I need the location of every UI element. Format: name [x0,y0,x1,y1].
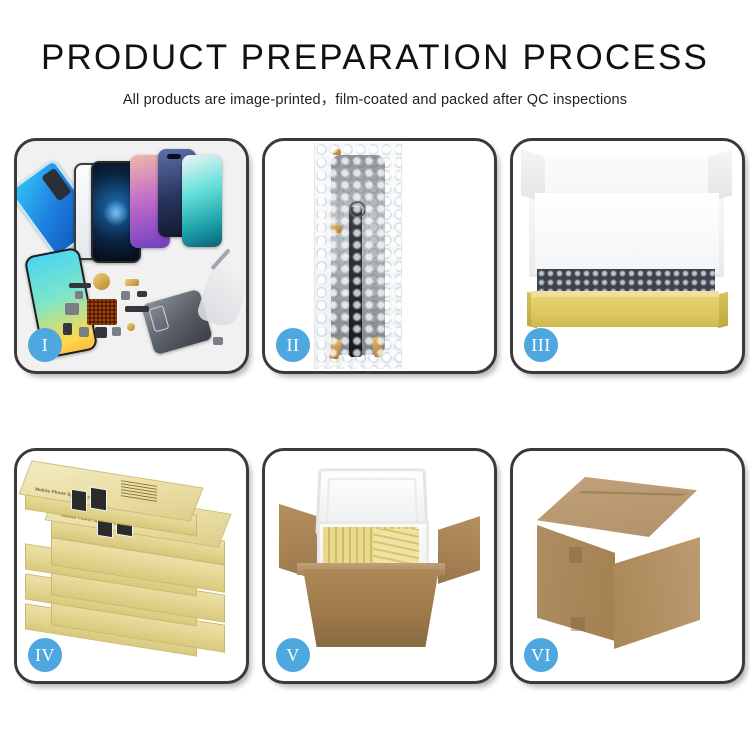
speaker-part-icon [93,273,110,290]
step-panel-3: III [510,138,745,374]
bubble-wrap-bag-icon [314,143,402,369]
step-badge-3: III [524,328,558,362]
connector-part-icon [125,279,139,286]
yellow-box-front-icon [531,297,719,327]
step-panel-2: II [262,138,497,374]
page-title: PRODUCT PREPARATION PROCESS [0,40,750,75]
antenna-part-icon [137,291,147,297]
step-badge-1: I [28,328,62,362]
box-stack-icon: Mobile Phone Spare Parts Mobile Phone Sp… [23,469,235,669]
sim-tray-icon [79,327,89,337]
page-header: PRODUCT PREPARATION PROCESS All products… [0,0,750,109]
page-subtitle: All products are image-printed，film-coat… [0,88,750,109]
carton-body-icon [303,569,439,647]
step-panel-5: V [262,448,497,684]
step-badge-5: V [276,638,310,672]
step-badge-4: IV [28,638,62,672]
bubble-texture-overlay [315,143,401,369]
foam-insert-icon [535,193,719,273]
sealed-carton-right-face [614,537,700,649]
step-badge-2: II [276,328,310,362]
camera-module-icon [95,327,107,338]
carton-tape-upper [569,547,582,563]
step-badge-6: VI [524,638,558,672]
small-chip-icon [121,291,130,300]
box-side-right [718,292,728,328]
screw-part-icon [112,327,121,336]
carton-tape-lower [571,617,585,631]
tweezers-hand-icon [195,258,246,329]
screws-group-icon [213,337,223,345]
sealed-carton-top-icon [537,477,697,537]
box-thumb-a1 [71,489,87,513]
step-panel-4: Mobile Phone Spare Parts Mobile Phone Sp… [14,448,249,684]
sensor-part-icon [75,291,83,299]
flex-cable-icon [125,306,149,312]
step-panel-6: VI [510,448,745,684]
phone-teal-icon [182,155,222,247]
bracket-part-icon [65,303,79,315]
vibrator-part-icon [127,323,135,331]
product-preparation-process-page: PRODUCT PREPARATION PROCESS All products… [0,0,750,750]
circuit-board-icon [87,299,117,325]
process-steps-grid: I II [14,138,740,678]
button-part-icon [63,323,72,335]
step-panel-1: I [14,138,249,374]
box-thumb-a2 [90,487,107,512]
bar-part-icon [69,283,91,288]
